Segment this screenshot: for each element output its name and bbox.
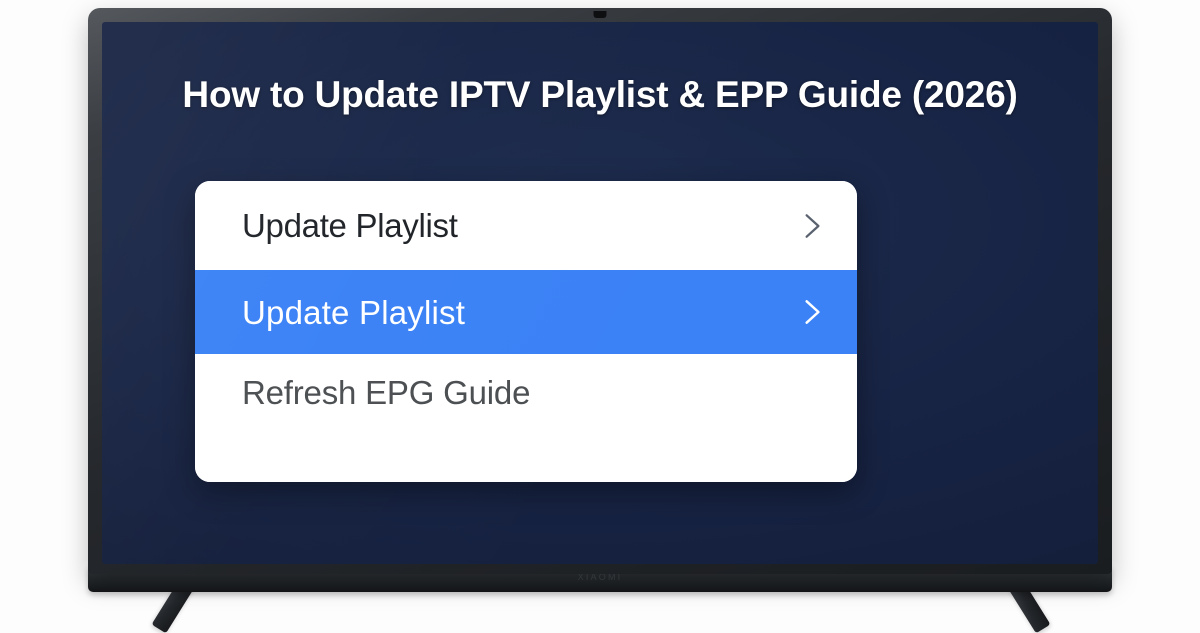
tv-sensor-icon — [594, 11, 607, 18]
tv-body: How to Update IPTV Playlist & EPP Guide … — [88, 8, 1112, 574]
menu-item-refresh-epg-guide[interactable]: Refresh EPG Guide — [195, 354, 857, 431]
menu-card-bottom-padding — [195, 431, 857, 482]
menu-item-label: Refresh EPG Guide — [242, 376, 825, 409]
page-title: How to Update IPTV Playlist & EPP Guide … — [102, 74, 1098, 116]
menu-item-label: Update Playlist — [242, 209, 799, 242]
tv-screen: How to Update IPTV Playlist & EPP Guide … — [102, 22, 1098, 564]
menu-item-label: Update Playlist — [242, 296, 799, 329]
menu-card: Update Playlist Update Playlist Refresh … — [195, 181, 857, 482]
scene: XIAOMI How to Update IPTV Playlist & EPP… — [0, 0, 1200, 630]
menu-item-update-playlist[interactable]: Update Playlist — [195, 181, 857, 270]
chevron-right-icon — [799, 211, 825, 241]
chevron-right-icon — [799, 297, 825, 327]
menu-item-update-playlist-selected[interactable]: Update Playlist — [195, 270, 857, 354]
